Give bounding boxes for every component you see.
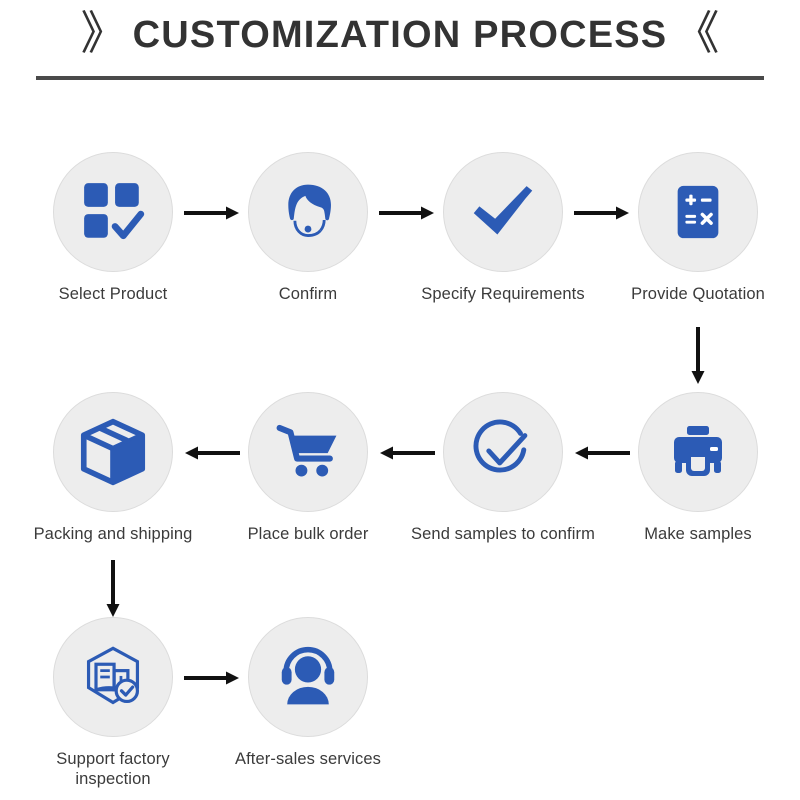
step-icon-circle (443, 392, 563, 512)
shield-factory-check-icon (79, 643, 147, 711)
page-title-text: CUSTOMIZATION PROCESS (133, 14, 668, 57)
process-step-confirm[interactable]: Confirm (210, 152, 406, 304)
step-label: Send samples to confirm (411, 524, 595, 544)
connector-arrow-left (184, 445, 240, 461)
step-label: Provide Quotation (631, 284, 765, 304)
step-label: Support factory inspection (56, 749, 169, 789)
process-step-support-factory-inspection[interactable]: Support factory inspection (15, 617, 211, 789)
step-icon-circle (638, 392, 758, 512)
process-step-make-samples[interactable]: Make samples (600, 392, 796, 544)
step-icon-circle (53, 152, 173, 272)
header-divider (36, 76, 764, 80)
process-step-place-bulk-order[interactable]: Place bulk order (210, 392, 406, 544)
step-icon-circle (248, 152, 368, 272)
connector-arrow-left (574, 445, 630, 461)
connector-arrow-right (184, 205, 240, 221)
connector-arrow-down (690, 327, 706, 385)
step-icon-circle (53, 617, 173, 737)
process-step-provide-quotation[interactable]: Provide Quotation (600, 152, 796, 304)
step-label: Packing and shipping (34, 524, 193, 544)
connector-arrow-right (379, 205, 435, 221)
connector-arrow-right (574, 205, 630, 221)
step-label: Place bulk order (248, 524, 369, 544)
package-box-icon (77, 416, 149, 488)
headset-person-icon (273, 642, 343, 712)
process-step-specify-requirements[interactable]: Specify Requirements (405, 152, 601, 304)
connector-arrow-right (184, 670, 240, 686)
step-icon-circle (638, 152, 758, 272)
step-icon-circle (248, 392, 368, 512)
printer-machine-icon (666, 420, 730, 484)
connector-arrow-down (105, 560, 121, 618)
customization-process-infographic: 》 CUSTOMIZATION PROCESS 《 Select Product (0, 0, 800, 800)
process-flow: Select Product Confirm (0, 92, 800, 800)
step-label: Make samples (644, 524, 752, 544)
process-step-after-sales-services[interactable]: After-sales services (210, 617, 406, 769)
step-icon-circle (443, 152, 563, 272)
step-icon-circle (248, 617, 368, 737)
circle-check-icon (468, 417, 538, 487)
checkmark-icon (467, 176, 539, 248)
headset-agent-icon (273, 177, 343, 247)
process-step-send-samples-to-confirm[interactable]: Send samples to confirm (405, 392, 601, 544)
chevron-right-ornament-icon: 》 (81, 10, 127, 56)
step-icon-circle (53, 392, 173, 512)
header: 》 CUSTOMIZATION PROCESS 《 (0, 0, 800, 92)
calculator-icon (667, 181, 729, 243)
step-label: Specify Requirements (421, 284, 584, 304)
step-label: Confirm (279, 284, 337, 304)
process-step-select-product[interactable]: Select Product (15, 152, 211, 304)
step-label: Select Product (59, 284, 168, 304)
connector-arrow-left (379, 445, 435, 461)
process-step-packing-and-shipping[interactable]: Packing and shipping (15, 392, 211, 544)
shopping-cart-icon (273, 417, 343, 487)
page-title: 》 CUSTOMIZATION PROCESS 《 (0, 0, 800, 70)
step-label: After-sales services (235, 749, 381, 769)
chevron-left-ornament-icon: 《 (673, 10, 719, 56)
grid-check-icon (80, 179, 146, 245)
